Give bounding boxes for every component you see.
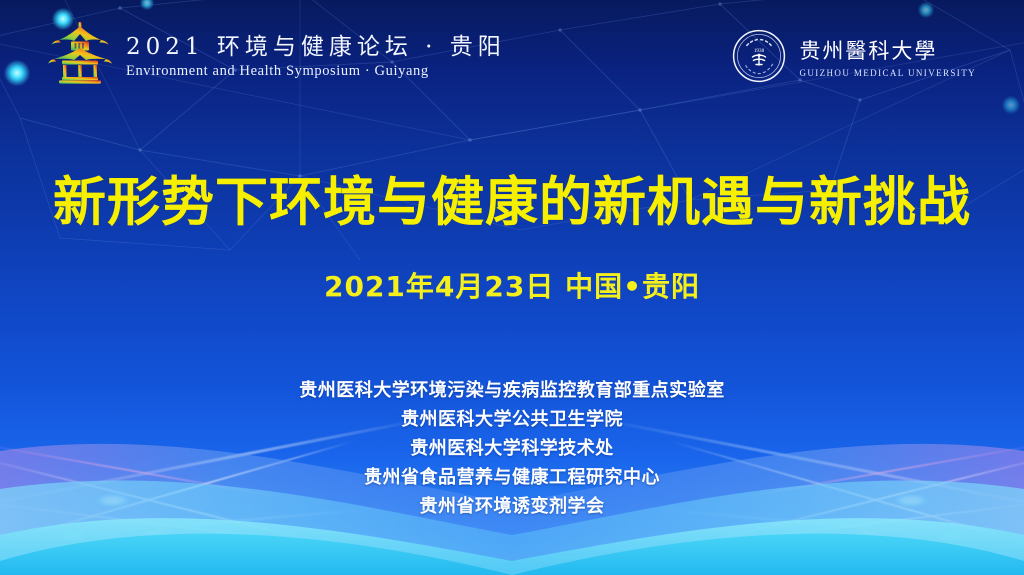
organizer-list: 贵州医科大学环境污染与疾病监控教育部重点实验室 贵州医科大学公共卫生学院 贵州医… [0, 376, 1024, 521]
page-title: 新形势下环境与健康的新机遇与新挑战 [0, 160, 1024, 236]
organizer-item: 贵州省环境诱变剂学会 [0, 492, 1024, 521]
organizer-item: 贵州医科大学科学技术处 [0, 434, 1024, 463]
slide-body: 新形势下环境与健康的新机遇与新挑战 2021年4月23日 中国•贵阳 贵州医科大… [0, 0, 1024, 575]
organizer-item: 贵州医科大学环境污染与疾病监控教育部重点实验室 [0, 376, 1024, 405]
organizer-item: 贵州省食品营养与健康工程研究中心 [0, 463, 1024, 492]
presentation-slide: 2021 环境与健康论坛 · 贵阳 Environment and Health… [0, 0, 1024, 575]
organizer-item: 贵州医科大学公共卫生学院 [0, 405, 1024, 434]
event-date-location: 2021年4月23日 中国•贵阳 [0, 265, 1024, 305]
